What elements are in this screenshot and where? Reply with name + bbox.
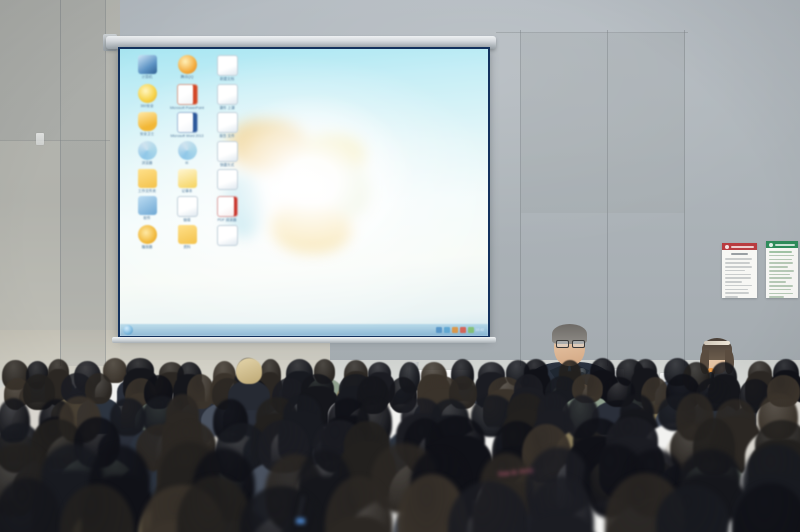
shield-icon <box>138 112 157 131</box>
desktop-icon-label: 资料 <box>168 245 206 250</box>
ie-icon[interactable]: IE <box>168 141 206 168</box>
desktop-icon-grid: 计算机腾讯QQ新建文档360安全Microsoft PowerPoint课件 上… <box>128 55 248 251</box>
report-file-icon <box>217 112 238 133</box>
lanyard <box>298 496 304 518</box>
audience-head <box>60 484 135 532</box>
shortcut-file-icon[interactable]: 快捷方式 <box>208 141 246 168</box>
poster-red-notice[interactable] <box>722 243 757 298</box>
media-player-icon <box>138 225 157 244</box>
blue-app-icon <box>138 196 157 215</box>
glasses-icon <box>556 340 583 346</box>
desktop-icon-label: 课件 上课 <box>208 106 246 111</box>
word-icon <box>177 112 198 133</box>
wall-panel-shade <box>60 0 105 366</box>
poster-header <box>766 241 798 248</box>
wall-seam <box>105 0 106 366</box>
document-icon <box>217 55 238 76</box>
desktop-icon-label: 360安全 <box>128 104 166 109</box>
desktop-icon-label: Microsoft Word 2013 <box>168 134 206 139</box>
desktop-icon-label: 播放器 <box>128 245 166 250</box>
screen-bottom-weight-bar <box>112 337 496 343</box>
lecture-hall-photo: 计算机腾讯QQ新建文档360安全Microsoft PowerPoint课件 上… <box>0 0 800 532</box>
report-file-icon[interactable]: 报告 文件 <box>208 112 246 139</box>
qq-icon[interactable]: 腾讯QQ <box>168 55 206 82</box>
my-computer-icon <box>138 55 157 74</box>
wall-panel-shade <box>0 0 60 140</box>
poster-body <box>722 250 757 298</box>
message-icon[interactable] <box>468 327 474 333</box>
desktop-icon-label: 记事本 <box>168 189 206 194</box>
desktop-icon-label: 腾讯QQ <box>168 75 206 80</box>
yellow-folder-icon <box>178 225 197 244</box>
audience-head <box>656 485 729 532</box>
yellow-folder-icon[interactable]: 资料 <box>168 225 206 250</box>
text-file-icon[interactable]: 课件 上课 <box>208 84 246 111</box>
word-icon[interactable]: Microsoft Word 2013 <box>168 112 206 139</box>
audience-member <box>528 476 595 532</box>
document-icon[interactable]: 新建文档 <box>208 55 246 82</box>
link-icon <box>177 196 198 217</box>
desktop-icon-label: 浏览器 <box>128 161 166 166</box>
desktop-icon-label: 计算机 <box>128 75 166 80</box>
notes-icon[interactable]: 记事本 <box>168 169 206 194</box>
empty-slot-icon <box>217 169 238 190</box>
input-method-icon[interactable] <box>452 327 458 333</box>
media-player-icon[interactable]: 播放器 <box>128 225 166 250</box>
poster-header-text <box>731 246 754 248</box>
desktop-icon-label: 软件 <box>128 216 166 221</box>
desktop-icon-label: PDF 阅读器 <box>208 218 246 223</box>
empty-slot-icon[interactable] <box>208 225 246 250</box>
link-icon[interactable]: 链接 <box>168 196 206 223</box>
audience-lanyard-badge <box>294 496 334 530</box>
desktop-icon-label: 链接 <box>168 218 206 223</box>
star-app-icon[interactable]: 360安全 <box>128 84 166 111</box>
desktop-icon-label: 快捷方式 <box>208 163 246 168</box>
audience-head <box>733 483 800 532</box>
desktop-icon-label: 工作文件夹 <box>128 189 166 194</box>
audience-head <box>448 481 530 532</box>
ie-icon <box>178 141 197 160</box>
audience-member <box>733 483 800 532</box>
qq-icon <box>178 55 197 74</box>
windows-taskbar[interactable]: 10:42 <box>120 324 488 336</box>
notes-icon <box>178 169 197 188</box>
folder-icon[interactable]: 工作文件夹 <box>128 169 166 194</box>
projector-screen[interactable]: 计算机腾讯QQ新建文档360安全Microsoft PowerPoint课件 上… <box>118 47 490 338</box>
empty-slot-icon <box>217 225 238 246</box>
antivirus-icon[interactable] <box>460 327 466 333</box>
audience-head <box>236 358 262 384</box>
wall-switch-plate <box>36 133 44 145</box>
poster-green-notice[interactable] <box>766 241 798 298</box>
start-orb-icon[interactable] <box>123 325 133 335</box>
pdf-icon <box>217 196 238 217</box>
desktop-icon-label: Microsoft PowerPoint <box>168 106 206 111</box>
wall-panel-shade <box>521 33 685 213</box>
audience-head <box>0 478 60 532</box>
audience-member <box>656 485 729 532</box>
desktop-icon-label: 报告 文件 <box>208 134 246 139</box>
blue-app-icon[interactable]: 软件 <box>128 196 166 223</box>
shield-icon[interactable]: 安全卫士 <box>128 112 166 139</box>
interpreter-hair-band <box>704 341 730 345</box>
taskbar-clock: 10:42 <box>476 328 485 332</box>
projected-desktop: 计算机腾讯QQ新建文档360安全Microsoft PowerPoint课件 上… <box>120 49 488 336</box>
audience-member <box>0 478 60 532</box>
audience-member <box>325 476 393 532</box>
desktop-icon-label: 新建文档 <box>208 77 246 82</box>
audience-member <box>448 481 530 532</box>
shortcut-file-icon <box>217 141 238 162</box>
poster-emblem-icon <box>725 245 729 249</box>
network-icon[interactable] <box>436 327 442 333</box>
pdf-icon[interactable]: PDF 阅读器 <box>208 196 246 223</box>
empty-slot-icon[interactable] <box>208 169 246 194</box>
text-file-icon <box>217 84 238 105</box>
audience-member <box>60 484 135 532</box>
folder-icon <box>138 169 157 188</box>
poster-header-text <box>775 244 795 246</box>
poster-body <box>766 248 798 298</box>
browser-icon <box>138 141 157 160</box>
desktop-icon-label: IE <box>168 161 206 166</box>
browser-icon[interactable]: 浏览器 <box>128 141 166 168</box>
volume-icon[interactable] <box>444 327 450 333</box>
desktop-icon-label: 安全卫士 <box>128 132 166 137</box>
poster-emblem-icon <box>769 243 773 247</box>
audience <box>0 352 800 532</box>
poster-header <box>722 243 757 250</box>
my-computer-icon[interactable]: 计算机 <box>128 55 166 82</box>
badge <box>296 518 305 524</box>
powerpoint-icon <box>177 84 198 105</box>
star-app-icon <box>138 84 157 103</box>
powerpoint-icon[interactable]: Microsoft PowerPoint <box>168 84 206 111</box>
